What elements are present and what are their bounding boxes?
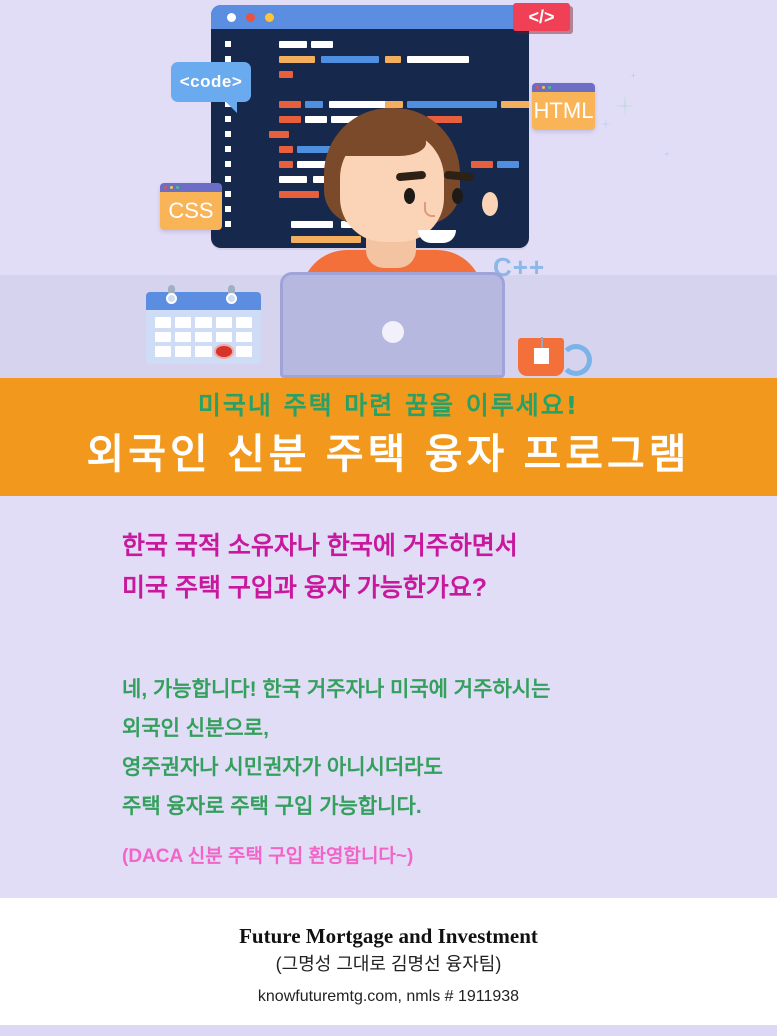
card-titlebar	[160, 183, 222, 192]
answer-line-1: 네, 가능합니다! 한국 거주자나 미국에 거주하시는	[122, 673, 550, 703]
traffic-light-red-icon	[246, 13, 255, 22]
content-section: 한국 국적 소유자나 한국에 거주하면서 미국 주택 구입과 융자 가능한가요?…	[0, 496, 777, 898]
answer-line-2: 외국인 신분으로,	[122, 712, 269, 742]
banner-subtitle: 미국내 주택 마련 꿈을 이루세요!	[0, 386, 777, 422]
code-speech-bubble: <code>	[171, 62, 251, 102]
hero-illustration: <code> </> HTML CSS C++	[0, 0, 777, 378]
team-name: (그명성 그대로 김명선 융자팀)	[0, 950, 777, 976]
card-label: CSS	[160, 192, 222, 230]
headline-banner: 미국내 주택 마련 꿈을 이루세요! 외국인 신분 주택 융자 프로그램	[0, 378, 777, 496]
calendar-icon	[146, 292, 261, 364]
card-label: HTML	[532, 92, 595, 130]
code-tag-badge: </>	[513, 3, 570, 31]
coffee-mug-icon	[518, 338, 564, 376]
laptop-logo-icon	[382, 321, 404, 343]
sparkle-icon	[600, 118, 612, 130]
question-line-1: 한국 국적 소유자나 한국에 거주하면서	[122, 526, 518, 562]
editor-titlebar	[211, 5, 529, 29]
laptop	[280, 272, 505, 378]
traffic-light-yellow-icon	[265, 13, 274, 22]
question-line-2: 미국 주택 구입과 융자 가능한가요?	[122, 568, 487, 604]
character-hair-fringe	[342, 116, 426, 156]
bottom-strip	[0, 1025, 777, 1036]
banner-title: 외국인 신분 주택 융자 프로그램	[0, 420, 777, 480]
answer-line-3: 영주권자나 시민권자가 아니시더라도	[122, 751, 443, 781]
answer-line-4: 주택 융자로 주택 구입 가능합니다.	[122, 790, 422, 820]
css-language-card: CSS	[160, 183, 222, 230]
poster-root: <code> </> HTML CSS C++	[0, 0, 777, 1036]
sparkle-icon	[663, 150, 671, 158]
sparkle-icon	[612, 93, 638, 119]
contact-info[interactable]: knowfuturemtg.com, nmls # 1911938	[0, 988, 777, 1006]
daca-note: (DACA 신분 주택 구입 환영합니다~)	[122, 841, 413, 868]
traffic-light-white-icon	[227, 13, 236, 22]
sparkle-icon	[630, 72, 637, 79]
company-name: Future Mortgage and Investment	[0, 924, 777, 949]
footer-section: Future Mortgage and Investment (그명성 그대로 …	[0, 898, 777, 1025]
html-language-card: HTML	[532, 83, 595, 130]
card-titlebar	[532, 83, 595, 92]
